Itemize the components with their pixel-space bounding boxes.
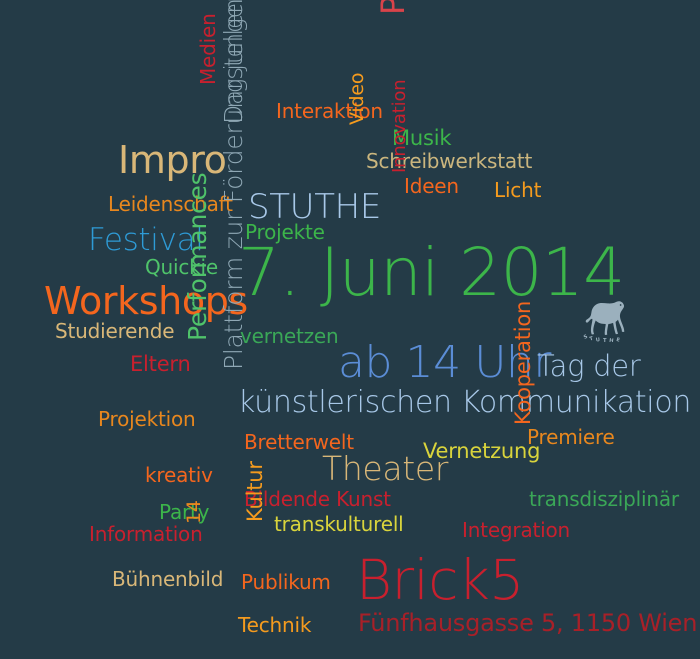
word-cloud-canvas: MedienInteraktionPartizipationVideoMusik… xyxy=(0,0,700,659)
stuthe-horse-logo: S T U T H E xyxy=(578,294,636,342)
svg-text:H: H xyxy=(609,338,614,342)
cloud-word: Technik xyxy=(238,615,311,635)
cloud-word: transdisziplinär xyxy=(529,489,679,509)
cloud-word: künstlerischen Kommunikation xyxy=(238,388,691,418)
horse-icon xyxy=(586,301,624,335)
cloud-word: vernetzen xyxy=(240,326,339,346)
cloud-word: Publikum xyxy=(241,572,331,592)
svg-text:T: T xyxy=(589,336,594,342)
cloud-word: Integration xyxy=(462,520,570,540)
cloud-word: transkulturell xyxy=(274,514,404,534)
cloud-word: Partizipation xyxy=(377,0,409,15)
cloud-word: Fünfhausgasse 5, 1150 Wien xyxy=(358,611,697,635)
cloud-word: Brick5 xyxy=(356,553,524,608)
cloud-word: Projektion xyxy=(98,409,195,429)
cloud-word: Video xyxy=(348,73,367,125)
svg-text:E: E xyxy=(615,337,620,342)
cloud-word: Plattform zur Förderung junger xyxy=(221,0,246,370)
cloud-word: Performances xyxy=(185,173,210,341)
cloud-word: Kultur xyxy=(245,461,266,522)
cloud-word: Licht xyxy=(494,180,541,200)
cloud-word: Theater xyxy=(322,452,448,485)
cloud-word: Tag der xyxy=(537,352,640,381)
cloud-word: Medien xyxy=(198,13,218,85)
cloud-word: Innovation xyxy=(391,80,409,174)
cloud-word: Ideen xyxy=(404,176,459,196)
cloud-word: Information xyxy=(89,524,203,544)
cloud-word: Leidenschaft xyxy=(108,194,233,214)
cloud-word: Studierende xyxy=(55,321,174,341)
svg-text:U: U xyxy=(595,337,600,342)
svg-text:T: T xyxy=(603,338,607,342)
cloud-word: Workshops xyxy=(44,282,248,320)
cloud-word: Kooperation xyxy=(513,301,534,425)
stuthe-logo-caption: S T U T H E xyxy=(583,334,621,342)
cloud-word: Premiere xyxy=(527,427,615,447)
cloud-word: 7. Juni 2014 xyxy=(238,240,624,306)
cloud-word: Bühnenbild xyxy=(112,569,223,589)
cloud-word: STUTHE xyxy=(248,190,381,224)
cloud-word: kreativ xyxy=(145,465,213,485)
cloud-word: 14 xyxy=(185,500,204,524)
cloud-word: Eltern xyxy=(130,354,191,375)
